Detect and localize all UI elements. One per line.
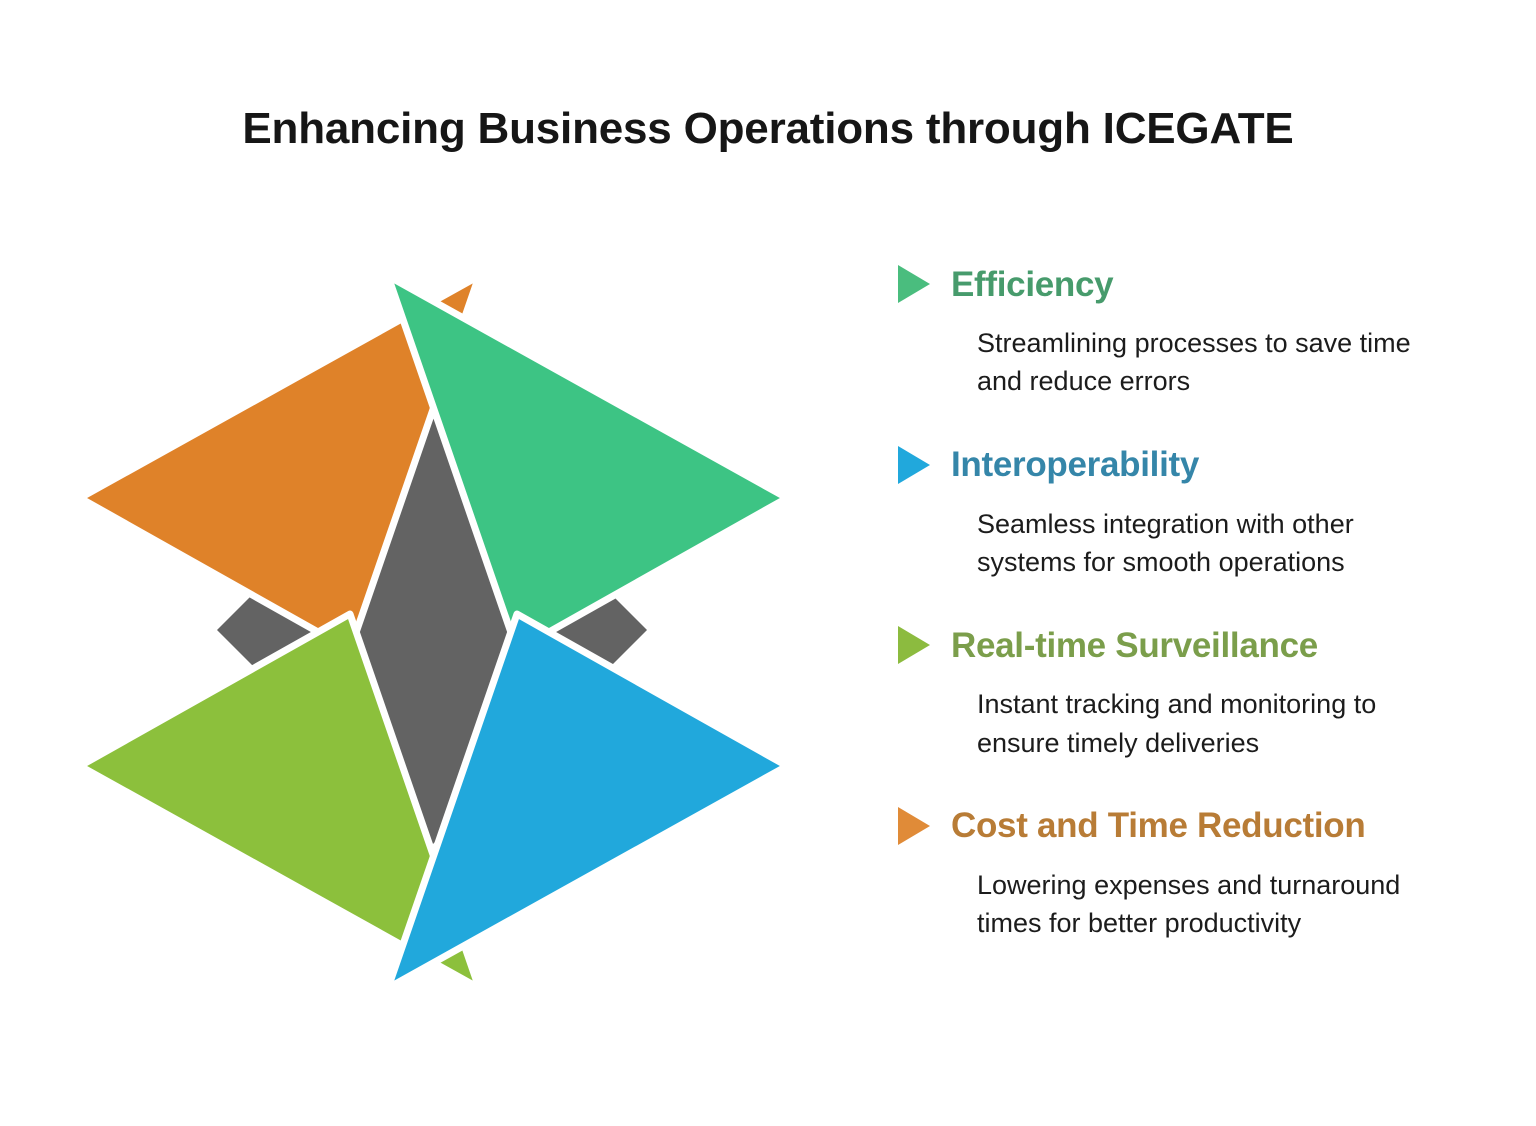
feature-header: Cost and Time Reduction: [895, 800, 1475, 852]
play-triangle-icon: [895, 443, 933, 487]
feature-item-efficiency[interactable]: Efficiency Streamlining processes to sav…: [895, 258, 1475, 401]
page-title: Enhancing Business Operations through IC…: [0, 104, 1536, 155]
play-triangle-icon: [895, 804, 933, 848]
feature-description: Streamlining processes to save time and …: [977, 324, 1457, 401]
feature-title: Real-time Surveillance: [951, 628, 1318, 663]
feature-description: Lowering expenses and turnaround times f…: [977, 866, 1457, 943]
feature-header: Efficiency: [895, 258, 1475, 310]
play-triangle-icon: [895, 262, 933, 306]
feature-item-real-time-surveillance[interactable]: Real-time Surveillance Instant tracking …: [895, 619, 1475, 762]
feature-title: Cost and Time Reduction: [951, 808, 1365, 843]
feature-description: Instant tracking and monitoring to ensur…: [977, 685, 1457, 762]
feature-item-cost-and-time-reduction[interactable]: Cost and Time Reduction Lowering expense…: [895, 800, 1475, 943]
feature-description: Seamless integration with other systems …: [977, 505, 1457, 582]
slide-canvas: Enhancing Business Operations through IC…: [0, 0, 1536, 1126]
feature-header: Interoperability: [895, 439, 1475, 491]
feature-list: Efficiency Streamlining processes to sav…: [895, 258, 1475, 943]
feature-header: Real-time Surveillance: [895, 619, 1475, 671]
pinwheel-diagram: [60, 260, 820, 1020]
feature-item-interoperability[interactable]: Interoperability Seamless integration wi…: [895, 439, 1475, 582]
play-triangle-icon: [895, 623, 933, 667]
feature-title: Interoperability: [951, 447, 1199, 482]
feature-title: Efficiency: [951, 267, 1113, 302]
